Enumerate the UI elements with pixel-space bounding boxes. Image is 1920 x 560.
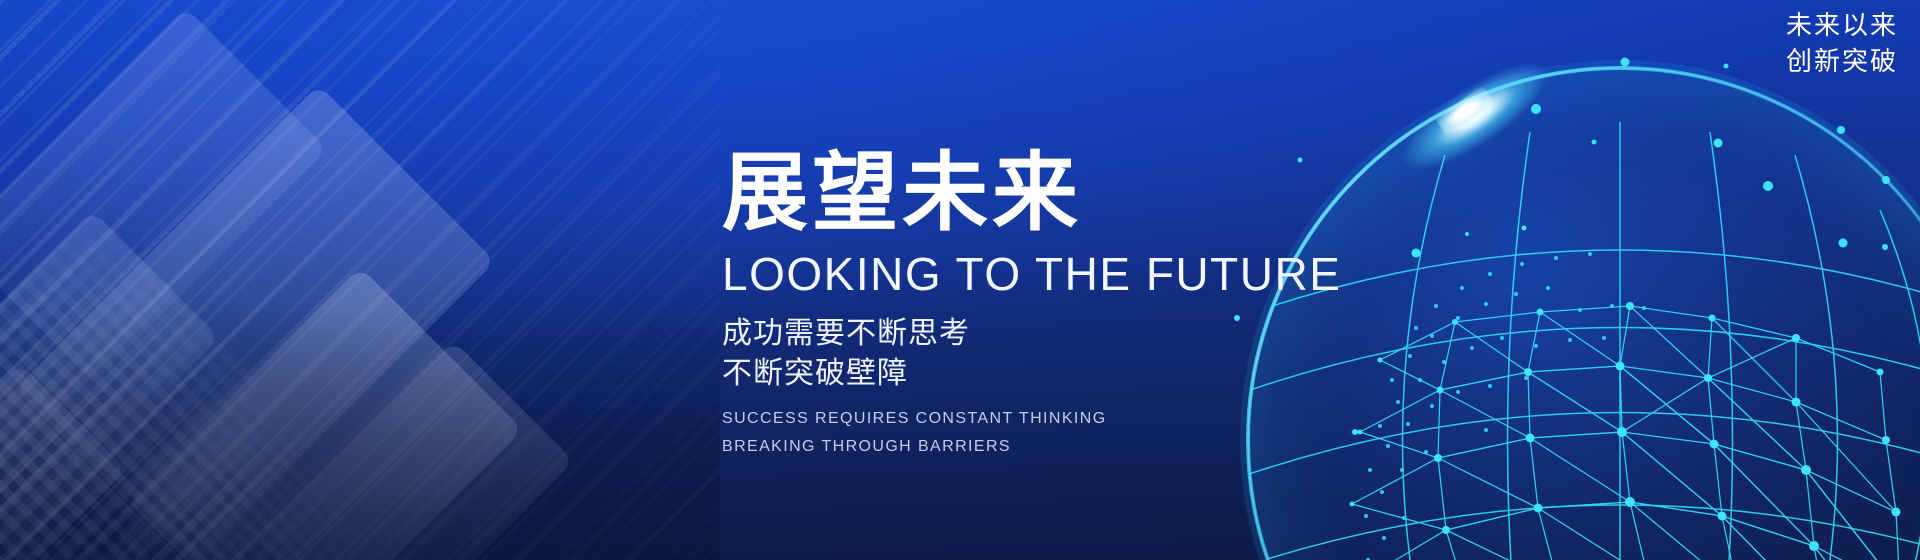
rotated-rect-4 — [127, 267, 523, 560]
rotated-rect-5 — [256, 341, 574, 560]
subtitle-english-line-1: SUCCESS REQUIRES CONSTANT THINKING — [722, 405, 1342, 432]
corner-slogan: 未来以来 创新突破 — [1786, 8, 1898, 80]
left-geometric-decor — [0, 0, 720, 560]
checker-dot-pattern-2 — [0, 334, 446, 560]
globe-mesh-lines — [1352, 306, 1920, 560]
globe-dot-speckle — [1364, 252, 1646, 560]
subtitle-english-line-2: BREAKING THROUGH BARRIERS — [722, 433, 1342, 460]
subtitle-chinese-line-1: 成功需要不断思考 — [722, 314, 1342, 354]
headline-english: LOOKING TO THE FUTURE — [722, 250, 1342, 298]
left-vignette-shade — [0, 0, 720, 560]
globe-mesh-nodes — [1350, 302, 1920, 560]
checker-dot-pattern-1 — [0, 213, 387, 560]
headline-chinese: 展望未来 — [722, 150, 1342, 236]
globe-limb-flare-core — [1435, 86, 1495, 137]
subtitle-english: SUCCESS REQUIRES CONSTANT THINKING BREAK… — [722, 405, 1342, 459]
diagonal-stripe-band-wide — [0, 0, 720, 560]
rotated-rect-2 — [15, 85, 496, 560]
rotated-rect-3 — [0, 210, 220, 549]
hero-banner: 展望未来 LOOKING TO THE FUTURE 成功需要不断思考 不断突破… — [0, 0, 1920, 560]
rotated-rect-6 — [0, 364, 126, 560]
diagonal-stripe-band-thin — [0, 0, 720, 560]
globe-wireframe-svg — [1240, 60, 1920, 560]
corner-slogan-line-1: 未来以来 — [1786, 8, 1898, 44]
corner-slogan-line-2: 创新突破 — [1786, 44, 1898, 80]
globe-inner-glow — [1240, 60, 1920, 560]
globe-limb-flare — [1389, 45, 1561, 186]
network-globe-graphic — [1240, 60, 1920, 560]
globe-rim-highlight — [1248, 68, 1920, 560]
headline-text-block: 展望未来 LOOKING TO THE FUTURE 成功需要不断思考 不断突破… — [722, 150, 1342, 460]
rotated-rect-1 — [0, 8, 327, 383]
subtitle-chinese: 成功需要不断思考 不断突破壁障 — [722, 314, 1342, 393]
subtitle-chinese-line-2: 不断突破壁障 — [722, 354, 1342, 394]
